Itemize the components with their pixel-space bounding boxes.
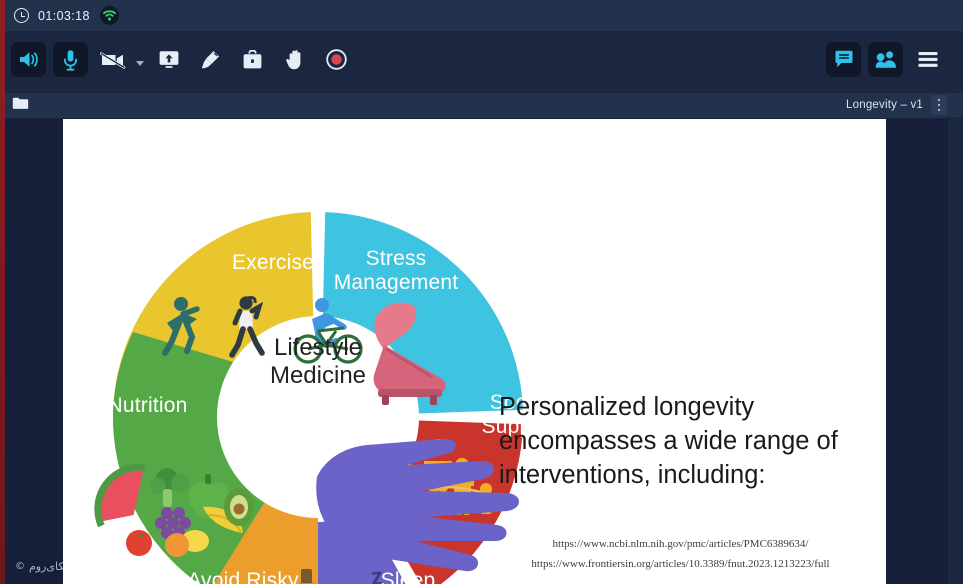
status-bar: 01:03:18 [0, 0, 963, 31]
camera-button[interactable] [95, 42, 130, 77]
wheel-hub-text: Lifestyle Medicine [203, 334, 433, 390]
chat-icon [834, 50, 854, 69]
hub-line-1: Lifestyle [203, 334, 433, 362]
wifi-icon [100, 6, 119, 25]
chevron-down-icon[interactable] [136, 61, 144, 66]
clock-icon [14, 8, 29, 23]
speaker-icon [18, 50, 40, 69]
slide-canvas[interactable]: z z z Exercise Stress Management Social … [63, 119, 886, 584]
wheel-label-nutrition: Nutrition [75, 394, 220, 418]
wheel-label-avoid-line1: Avoid Risky [153, 569, 333, 584]
wheel-label-stress-management: Stress Management [321, 247, 471, 294]
record-button[interactable] [319, 42, 354, 77]
whiteboard-brush-button[interactable] [193, 42, 228, 77]
toolbar-left-group [11, 42, 354, 77]
screen-share-icon [158, 50, 180, 69]
slide-references: https://www.ncbi.nlm.nih.gov/pmc/article… [483, 534, 878, 575]
hub-line-2: Medicine [203, 362, 433, 390]
speaker-button[interactable] [11, 42, 46, 77]
wheel-label-stress-line2: Management [321, 271, 471, 295]
participants-button[interactable] [868, 42, 903, 77]
raise-hand-button[interactable] [277, 42, 312, 77]
reference-link-1[interactable]: https://www.ncbi.nlm.nih.gov/pmc/article… [483, 534, 878, 554]
slide-body-text: Personalized longevity encompasses a wid… [499, 390, 867, 492]
hamburger-icon [917, 51, 939, 68]
files-button[interactable] [235, 42, 270, 77]
chat-button[interactable] [826, 42, 861, 77]
record-icon [326, 49, 347, 70]
folder-icon[interactable] [12, 96, 29, 115]
microphone-button[interactable] [53, 42, 88, 77]
kebab-menu-icon[interactable] [931, 95, 947, 115]
reference-link-2[interactable]: https://www.frontiersin.org/articles/10.… [483, 554, 878, 574]
menu-button[interactable] [910, 42, 945, 77]
camera-off-icon [100, 50, 126, 70]
session-timer: 01:03:18 [38, 9, 90, 23]
brush-icon [200, 49, 221, 70]
left-accent-strip [0, 0, 5, 584]
right-side-rail[interactable] [946, 117, 963, 584]
toolbar-right-group [826, 42, 945, 77]
wheel-label-stress-line1: Stress [321, 247, 471, 271]
watermark-copyright: © [15, 561, 25, 572]
document-bar: Longevity – v1 [0, 93, 963, 117]
raise-hand-icon [285, 49, 305, 70]
screen-share-button[interactable] [151, 42, 186, 77]
microphone-icon [63, 49, 78, 71]
briefcase-icon [242, 50, 263, 70]
participants-icon [875, 50, 897, 69]
skyroom-app-window: 01:03:18 [0, 0, 963, 584]
main-toolbar [0, 31, 963, 93]
wheel-label-avoid-risky-behaviors: Avoid Risky Behaviors [153, 569, 333, 584]
document-title: Longevity – v1 [846, 99, 923, 111]
